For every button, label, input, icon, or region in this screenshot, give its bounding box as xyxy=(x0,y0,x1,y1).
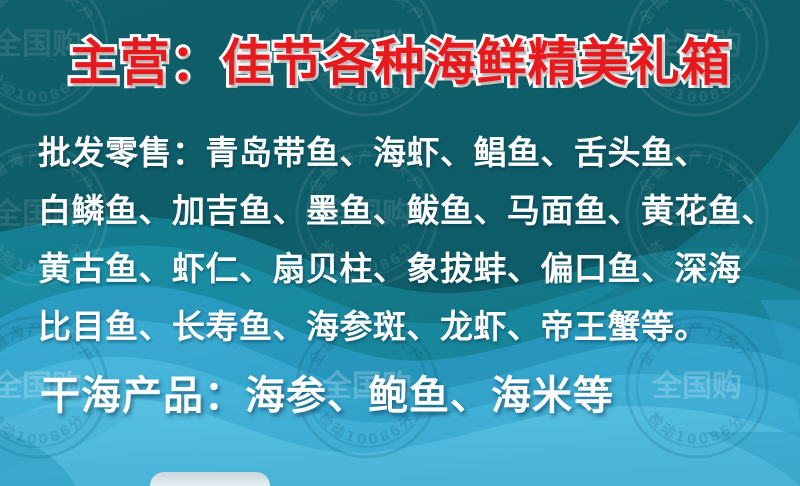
promo-banner: 全国海产门头户 检动10086分 全国购 全国海产门头户 xyxy=(0,0,800,486)
bottom-accent-shape xyxy=(150,472,270,486)
headline-title: 主营：佳节各种海鲜精美礼箱 xyxy=(0,34,800,92)
product-list: 批发零售：青岛带鱼、海虾、鲳鱼、舌头鱼、 白鳞鱼、加吉鱼、墨鱼、鲅鱼、马面鱼、黄… xyxy=(38,124,770,356)
product-list-line: 比目鱼、长寿鱼、海参斑、龙虾、帝王蟹等。 xyxy=(38,298,770,356)
product-list-line: 批发零售：青岛带鱼、海虾、鲳鱼、舌头鱼、 xyxy=(38,124,770,182)
dried-goods-line: 干海产品：海参、鲍鱼、海米等 xyxy=(40,368,614,424)
product-list-line: 白鳞鱼、加吉鱼、墨鱼、鲅鱼、马面鱼、黄花鱼、 xyxy=(38,182,770,240)
banner-content: 主营：佳节各种海鲜精美礼箱 批发零售：青岛带鱼、海虾、鲳鱼、舌头鱼、 白鳞鱼、加… xyxy=(0,0,800,486)
product-list-line: 黄古鱼、虾仁、扇贝柱、象拔蚌、偏口鱼、深海 xyxy=(38,240,770,298)
